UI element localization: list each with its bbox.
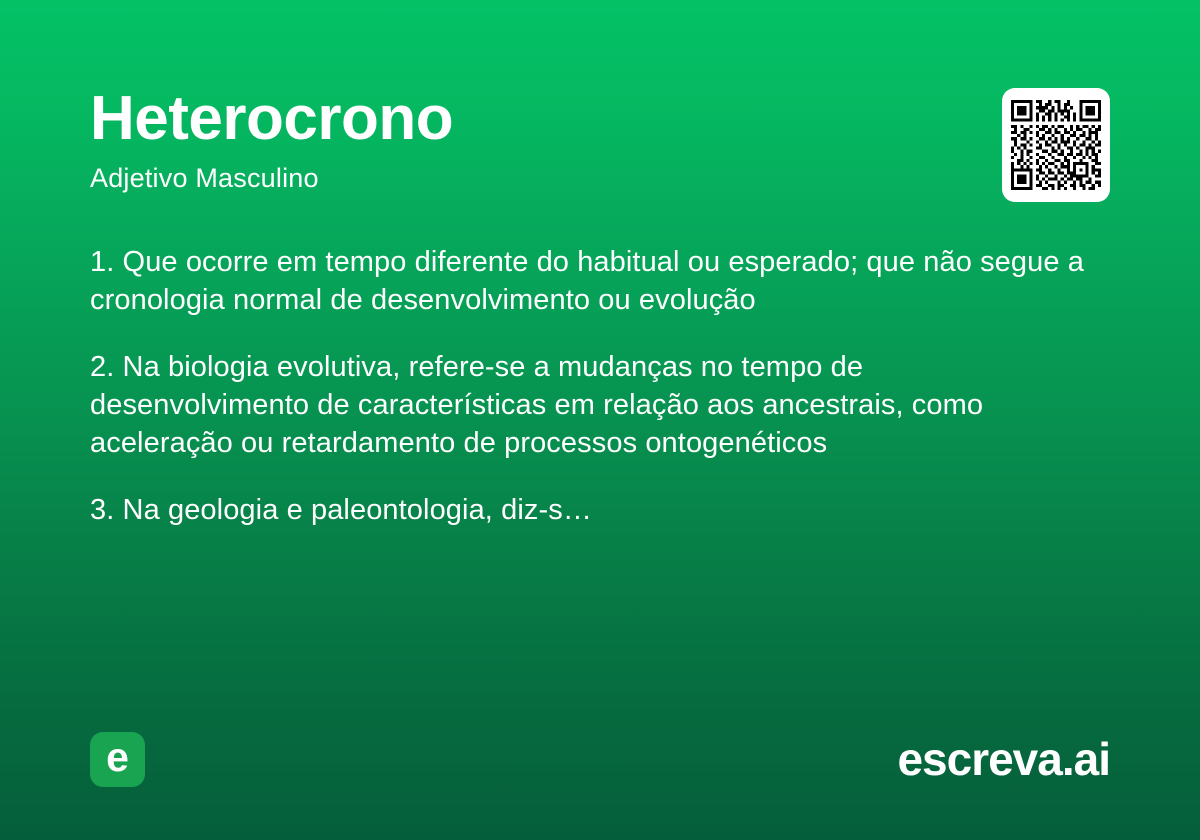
card-header: Heterocrono Adjetivo Masculino xyxy=(90,88,1110,202)
definitions-list: 1. Que ocorre em tempo diferente do habi… xyxy=(90,243,1090,529)
brand-wordmark: escreva.ai xyxy=(897,736,1110,782)
word-class-label: Adjetivo Masculino xyxy=(90,164,453,194)
definition-item: 1. Que ocorre em tempo diferente do habi… xyxy=(90,243,1090,319)
definition-item: 2. Na biologia evolutiva, refere-se a mu… xyxy=(90,348,1090,462)
definition-card: Heterocrono Adjetivo Masculino xyxy=(0,0,1200,840)
brand-logo-letter: e xyxy=(106,737,129,778)
qr-code-card[interactable] xyxy=(1002,88,1110,202)
definition-item: 3. Na geologia e paleontologia, diz-s… xyxy=(90,491,1090,529)
card-footer: e escreva.ai xyxy=(90,730,1110,788)
brand-logo-icon: e xyxy=(90,732,145,787)
page-title: Heterocrono xyxy=(90,88,453,150)
word-headings: Heterocrono Adjetivo Masculino xyxy=(90,88,453,194)
qr-code-icon xyxy=(1011,100,1101,190)
